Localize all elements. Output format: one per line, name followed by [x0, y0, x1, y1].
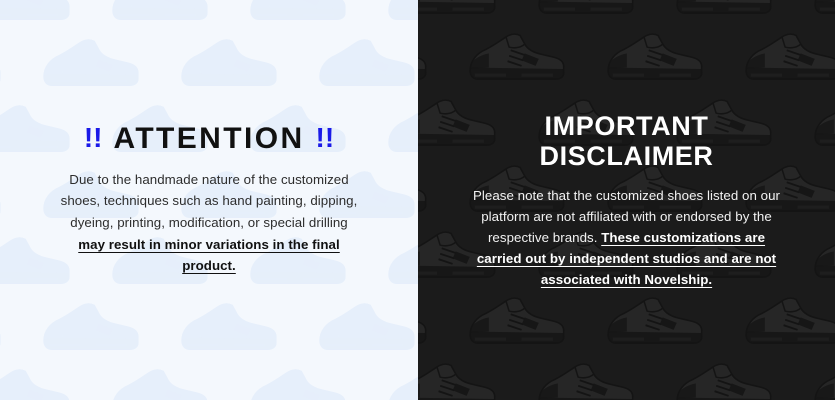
disclaimer-panel: IMPORTANT DISCLAIMER Please note that th…: [418, 0, 835, 400]
disclaimer-heading-line2: DISCLAIMER: [444, 141, 809, 172]
exclamation-marks-left-icon: !!: [84, 122, 103, 153]
attention-heading: !!ATTENTION!!: [26, 123, 392, 155]
disclaimer-banner: !!ATTENTION!! Due to the handmade nature…: [0, 0, 835, 400]
attention-heading-text: ATTENTION: [113, 122, 304, 155]
attention-content: !!ATTENTION!! Due to the handmade nature…: [0, 123, 418, 276]
exclamation-marks-right-icon: !!: [316, 122, 335, 153]
disclaimer-body: Please note that the customized shoes li…: [468, 185, 786, 290]
attention-body-emphasis: may result in minor variations in the fi…: [78, 237, 340, 274]
disclaimer-heading: IMPORTANT DISCLAIMER: [444, 111, 809, 172]
attention-panel: !!ATTENTION!! Due to the handmade nature…: [0, 0, 418, 400]
attention-body-normal: Due to the handmade nature of the custom…: [61, 172, 358, 230]
disclaimer-heading-line1: IMPORTANT: [444, 111, 809, 142]
attention-body: Due to the handmade nature of the custom…: [59, 169, 359, 277]
disclaimer-content: IMPORTANT DISCLAIMER Please note that th…: [418, 111, 835, 290]
